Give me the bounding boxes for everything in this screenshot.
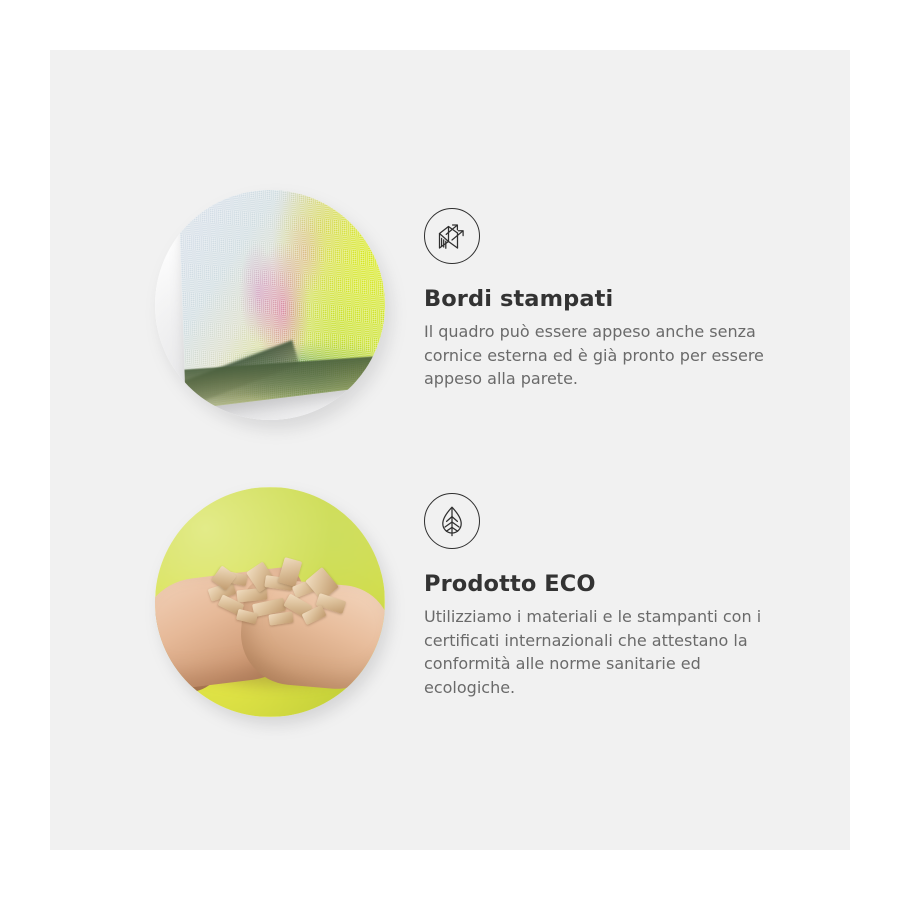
content-panel: Bordi stampati Il quadro può essere appe…: [50, 50, 850, 850]
printed-edges-icon: [424, 208, 480, 264]
page-stage: Bordi stampati Il quadro può essere appe…: [0, 0, 900, 900]
feature-copy-printed-edges: Bordi stampati Il quadro può essere appe…: [424, 208, 824, 391]
canvas-corner-photo: [155, 190, 385, 420]
wood-chips-hands-photo: [155, 487, 385, 717]
feature-title: Bordi stampati: [424, 286, 824, 313]
feature-copy-eco-product: Prodotto ECO Utilizziamo i materiali e l…: [424, 493, 824, 699]
canvas-block: [178, 190, 385, 410]
feature-description: Il quadro può essere appeso anche senza …: [424, 320, 792, 391]
leaf-icon: [424, 493, 480, 549]
wood-chips-pile: [207, 551, 347, 635]
feature-block-eco-product: Prodotto ECO Utilizziamo i materiali e l…: [50, 475, 850, 755]
feature-description: Utilizziamo i materiali e le stampanti c…: [424, 605, 792, 699]
feature-block-printed-edges: Bordi stampati Il quadro può essere appe…: [50, 190, 850, 470]
feature-title: Prodotto ECO: [424, 571, 824, 598]
